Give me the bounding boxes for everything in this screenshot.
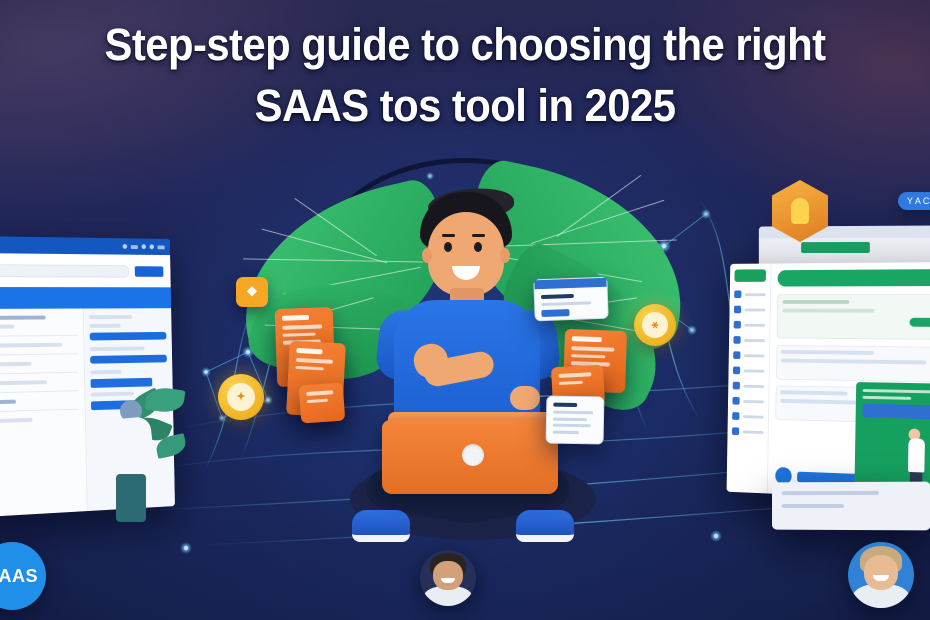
profile-hex-badge[interactable] xyxy=(772,180,828,242)
chat-header xyxy=(89,315,132,319)
sidebar-item-settings[interactable] xyxy=(732,412,763,420)
table-title xyxy=(0,316,46,320)
person-figure xyxy=(358,192,572,552)
coin-glyph-icon: ✦ xyxy=(227,383,256,412)
chat-label xyxy=(90,370,121,375)
menu-icon[interactable] xyxy=(158,245,165,249)
docs-icon xyxy=(733,382,740,390)
right-list-card[interactable] xyxy=(776,345,930,383)
eyebrow-right xyxy=(472,234,485,237)
brand-badge-label: SAAS xyxy=(0,566,38,587)
right-page-banner xyxy=(777,269,930,287)
table-row xyxy=(0,362,31,367)
sidebar-item-calendar[interactable] xyxy=(732,397,763,405)
page-title: Step-step guide to choosing the right SA… xyxy=(0,14,930,136)
chat-bubble xyxy=(90,332,167,341)
white-popup-card-top[interactable] xyxy=(533,277,608,322)
sidebar-logo xyxy=(734,269,766,282)
calendar-icon xyxy=(732,397,739,405)
chat-date xyxy=(89,324,120,328)
avatar-skin xyxy=(864,555,898,589)
person-glyph-icon xyxy=(791,198,809,224)
shoe-right xyxy=(516,510,574,542)
search-input[interactable] xyxy=(0,264,130,278)
popup-action-button[interactable] xyxy=(541,309,569,317)
popup-titlebar xyxy=(534,278,606,290)
sidebar-item-contacts[interactable] xyxy=(734,306,765,314)
reports-icon xyxy=(733,336,740,344)
banner-canvas: Y A C xyxy=(0,0,930,620)
table-row xyxy=(0,380,47,386)
user-icon[interactable] xyxy=(149,244,154,249)
contacts-icon xyxy=(734,306,741,314)
avatar-center[interactable] xyxy=(420,550,476,606)
right-primary-button[interactable] xyxy=(909,318,930,327)
left-section-header xyxy=(0,287,171,309)
sidebar-item-docs[interactable] xyxy=(733,382,764,390)
table-row xyxy=(0,400,16,405)
table-row xyxy=(0,418,32,424)
status-line xyxy=(782,504,844,508)
chat-bubble xyxy=(91,378,153,388)
figure-coat xyxy=(106,416,156,482)
inbox-icon xyxy=(734,321,741,329)
title-line-2: SAAS tos tool in 2025 xyxy=(42,75,888,136)
orange-card-three[interactable] xyxy=(299,383,346,424)
cart-icon[interactable] xyxy=(131,245,138,249)
left-panel-figure xyxy=(96,400,166,528)
table-row xyxy=(0,343,62,348)
more-icon xyxy=(732,427,739,435)
eye-right xyxy=(474,242,482,252)
left-window-titlebar xyxy=(0,236,170,255)
laptop-logo-icon xyxy=(462,444,484,466)
eye-left xyxy=(444,242,452,252)
settings-icon[interactable] xyxy=(141,244,146,249)
table-subtitle xyxy=(0,325,14,329)
right-green-dashboard-window[interactable] xyxy=(727,262,930,502)
hand-right xyxy=(510,386,540,410)
face xyxy=(428,212,504,296)
phone-icon xyxy=(733,351,740,359)
left-table-column xyxy=(0,309,87,518)
eyebrow-left xyxy=(442,234,455,237)
sidebar-item-more[interactable] xyxy=(732,427,763,436)
secondary-green-bar xyxy=(801,242,870,253)
orange-square-badge[interactable]: ❖ xyxy=(236,277,268,307)
chat-label xyxy=(90,346,144,351)
search-submit-button[interactable] xyxy=(135,266,164,277)
sidebar-item-tasks[interactable] xyxy=(733,367,764,375)
dashboard-icon xyxy=(734,290,741,298)
ear-right xyxy=(500,248,510,263)
white-popup-card-bottom[interactable] xyxy=(546,395,605,444)
gold-coin-badge-right[interactable]: ⚹ xyxy=(634,304,676,346)
title-line-1: Step-step guide to choosing the right xyxy=(42,14,888,75)
chat-bubble xyxy=(90,355,167,364)
right-status-bar-window[interactable] xyxy=(772,482,930,531)
top-right-pill-button[interactable]: Y A C xyxy=(898,192,930,210)
status-line xyxy=(782,491,879,495)
bell-icon[interactable] xyxy=(123,244,128,249)
sidebar-item-reports[interactable] xyxy=(733,336,764,344)
right-sidebar xyxy=(727,264,772,494)
right-green-promo-panel xyxy=(854,382,930,497)
promo-cta-chip[interactable] xyxy=(862,404,930,420)
ear-left xyxy=(422,248,432,263)
divider xyxy=(0,409,79,413)
avatar-skin xyxy=(433,561,462,590)
right-summary-card xyxy=(777,294,930,340)
figure-legs xyxy=(116,474,146,522)
coin-glyph-icon: ⚹ xyxy=(642,312,668,338)
divider xyxy=(0,372,78,375)
divider xyxy=(0,390,79,394)
sidebar-item-calls[interactable] xyxy=(733,351,764,359)
divider xyxy=(0,335,78,337)
tasks-icon xyxy=(733,367,740,375)
left-search-row xyxy=(0,253,171,287)
gear-icon xyxy=(732,412,739,420)
sidebar-item-dashboard[interactable] xyxy=(734,290,765,298)
avatar-right[interactable] xyxy=(848,542,914,608)
sidebar-item-inbox[interactable] xyxy=(734,321,765,329)
gold-coin-badge-left[interactable]: ✦ xyxy=(218,374,264,420)
shoe-left xyxy=(352,510,410,542)
divider xyxy=(0,353,78,356)
